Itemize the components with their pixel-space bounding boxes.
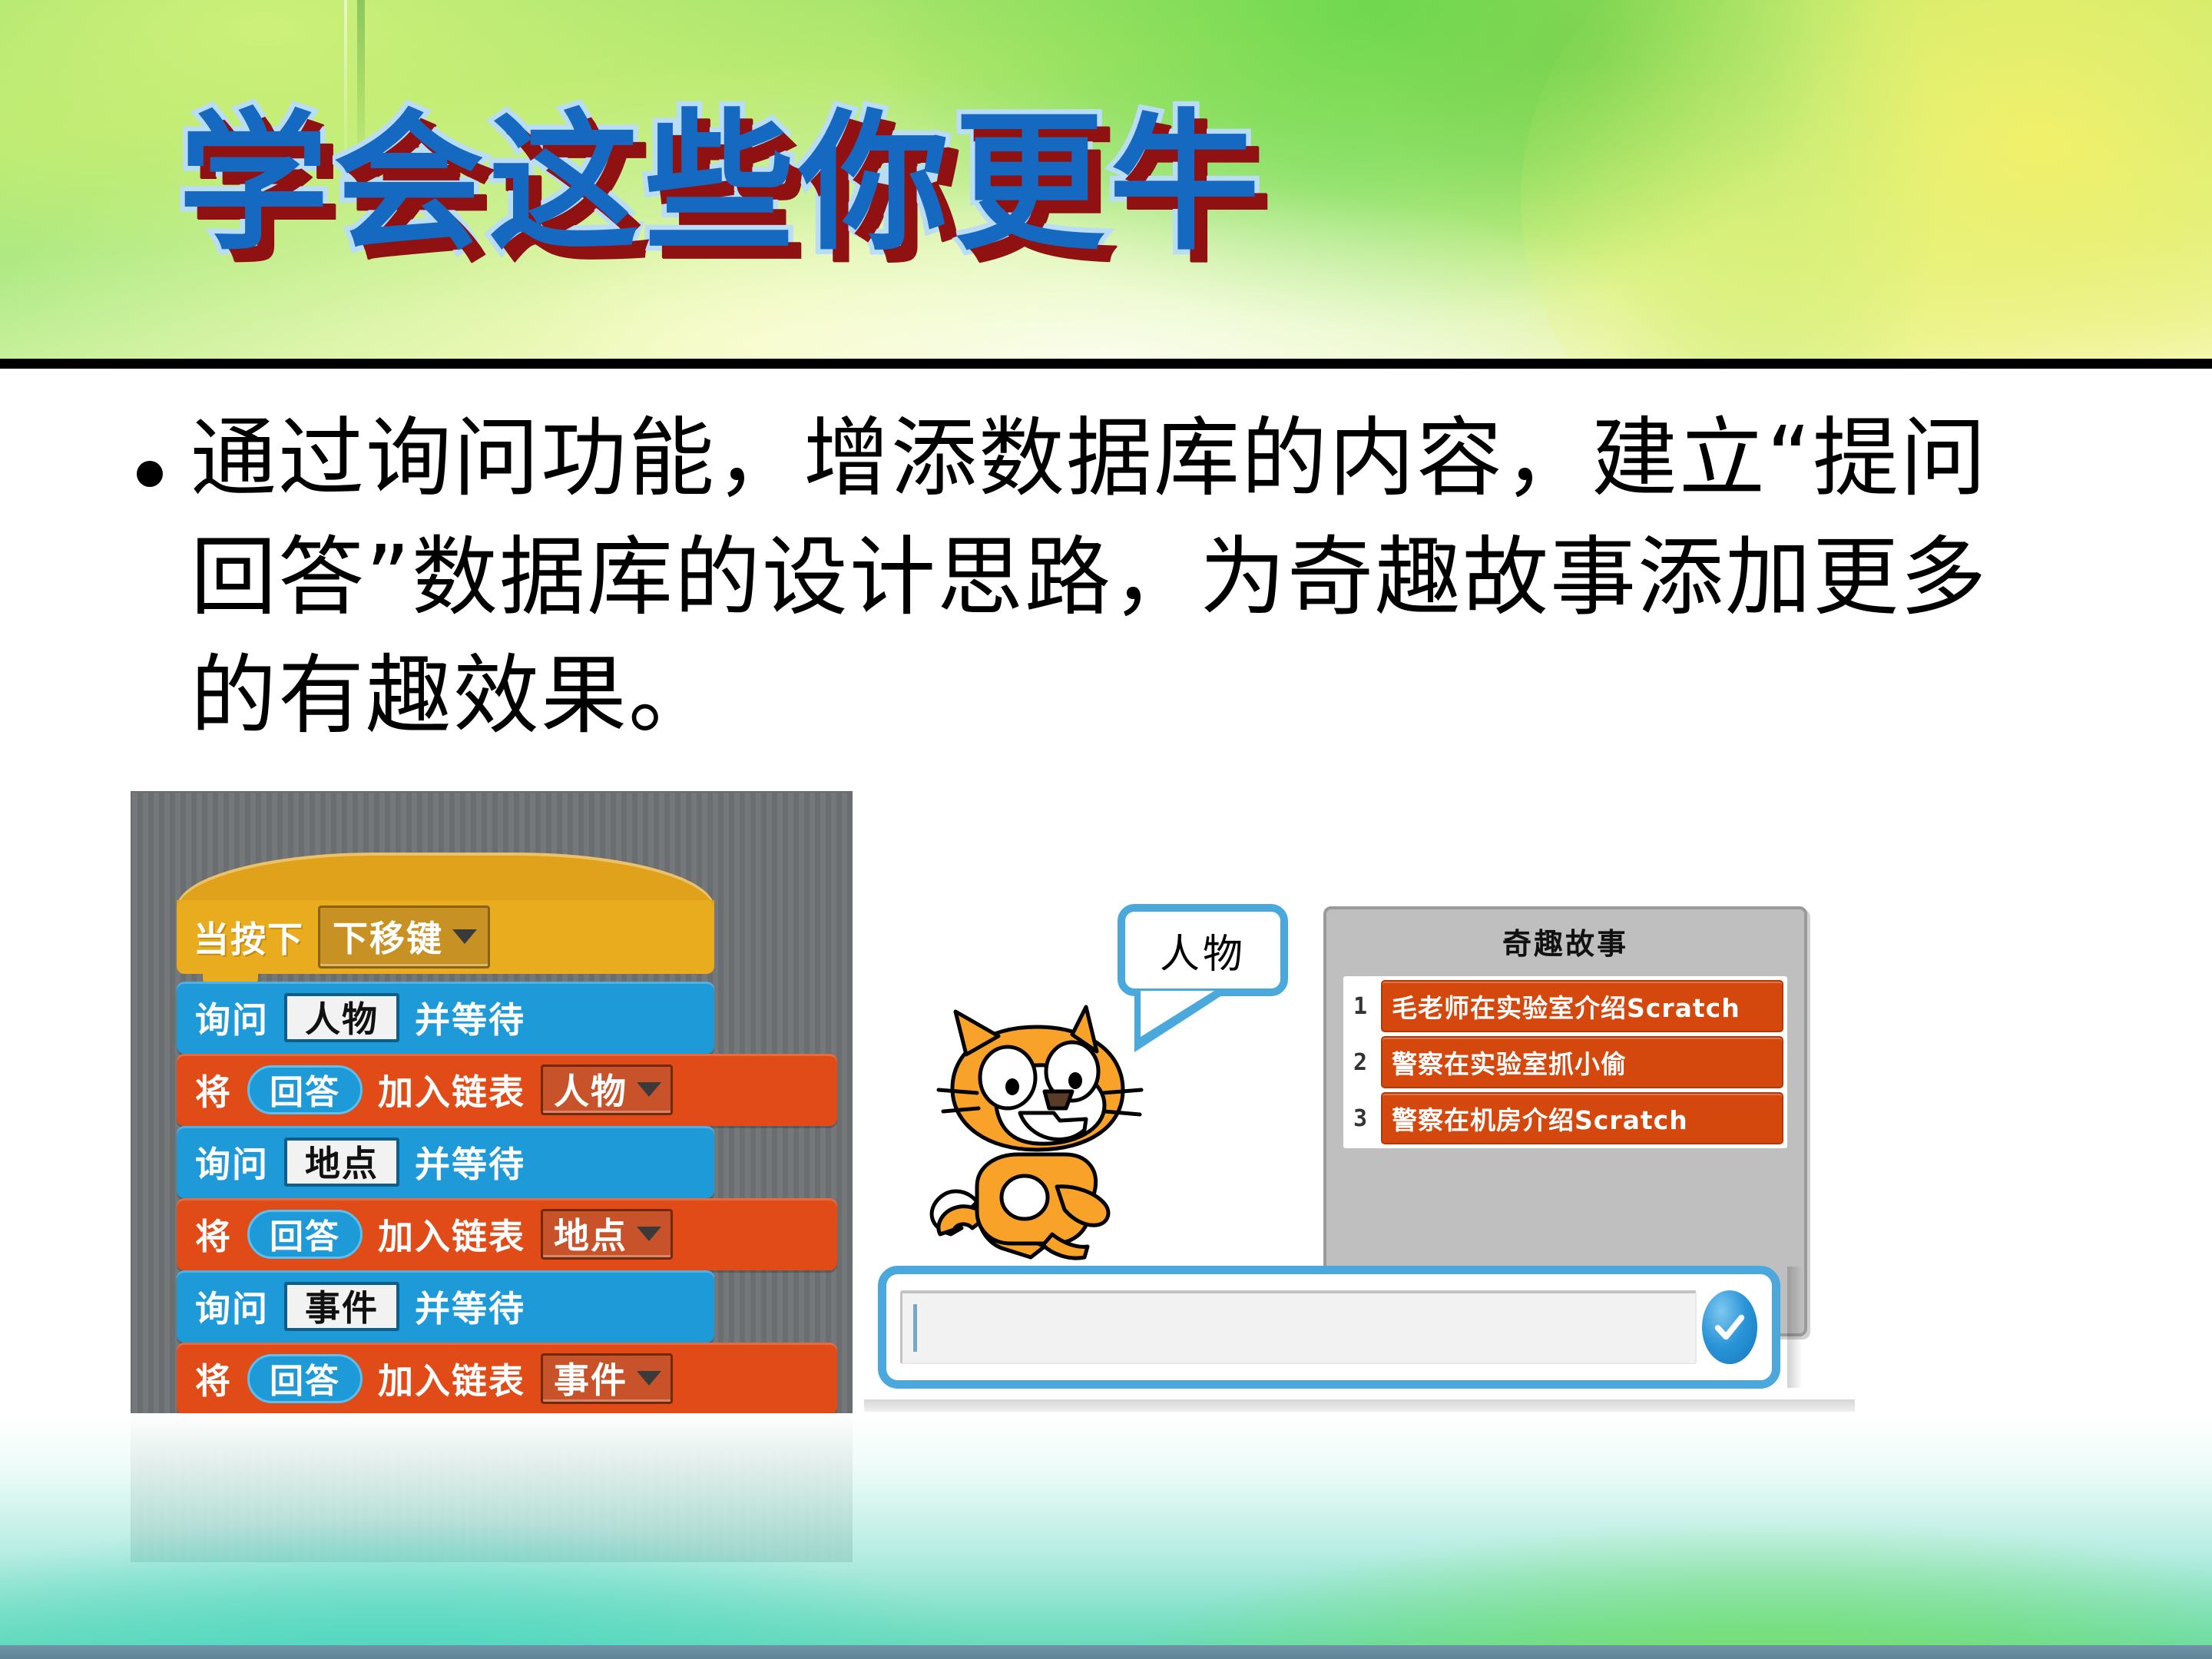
speech-bubble-text: 人物 — [1160, 922, 1246, 979]
list-item-value: 毛老师在实验室介绍Scratch — [1392, 993, 1740, 1023]
list-item-index: 1 — [1347, 993, 1373, 1020]
list-item-index: 3 — [1347, 1105, 1373, 1132]
ask-text-value-1: 人物 — [305, 992, 379, 1042]
answer-reporter-label-1: 回答 — [270, 1065, 340, 1114]
add-middle-label-1: 加入链表 — [378, 1065, 525, 1115]
list-dropdown-value-3: 事件 — [554, 1353, 628, 1403]
add-middle-label-3: 加入链表 — [378, 1353, 525, 1404]
list-item-value: 警察在机房介绍Scratch — [1392, 1105, 1688, 1135]
block-add-to-list-2[interactable]: 将 回答 加入链表 地点 — [177, 1198, 837, 1270]
ask-suffix-label-1: 并等待 — [415, 992, 525, 1043]
slide-header-banner: 学会这些你更牛 学会这些你更牛 — [0, 0, 2212, 359]
scratch-script-panel: 当按下 下移键 询问 人物 并等待 — [132, 793, 851, 1561]
add-prefix-label-1: 将 — [195, 1065, 232, 1115]
ask-prefix-label-1: 询问 — [195, 992, 269, 1043]
list-item[interactable]: 3 警察在机房介绍Scratch — [1347, 1092, 1783, 1144]
ask-bar-shadow — [1787, 1267, 1803, 1388]
ask-suffix-label-3: 并等待 — [415, 1281, 525, 1332]
ask-submit-button[interactable] — [1701, 1290, 1758, 1364]
script-block-stack: 当按下 下移键 询问 人物 并等待 — [177, 853, 837, 1415]
list-watcher-rows: 1 毛老师在实验室介绍Scratch 2 警察在实验室抓小偷 3 警察在机房介绍… — [1343, 976, 1787, 1148]
block-ask-and-wait-2[interactable]: 询问 地点 并等待 — [177, 1126, 714, 1198]
block-when-key-pressed[interactable]: 当按下 下移键 — [177, 853, 714, 982]
ask-text-input-3[interactable]: 事件 — [284, 1282, 399, 1331]
block-bottom-notch — [203, 1414, 258, 1428]
ask-text-value-2: 地点 — [305, 1136, 379, 1187]
ask-text-value-3: 事件 — [305, 1280, 379, 1331]
list-item-cell[interactable]: 毛老师在实验室介绍Scratch — [1381, 980, 1783, 1032]
list-item-cell[interactable]: 警察在实验室抓小偷 — [1381, 1036, 1783, 1088]
check-icon — [1702, 1290, 1757, 1364]
stage-baseline — [864, 1399, 1855, 1412]
check-glyph — [1712, 1310, 1747, 1345]
block-add-to-list-1[interactable]: 将 回答 加入链表 人物 — [177, 1054, 837, 1126]
add-prefix-label-3: 将 — [195, 1353, 232, 1404]
ask-text-input-2[interactable]: 地点 — [284, 1137, 399, 1187]
ask-prefix-label-3: 询问 — [195, 1281, 269, 1332]
answer-reporter-2[interactable]: 回答 — [247, 1210, 363, 1259]
answer-reporter-3[interactable]: 回答 — [247, 1354, 363, 1403]
list-dropdown-2[interactable]: 地点 — [541, 1209, 673, 1260]
chevron-down-icon — [637, 1371, 661, 1386]
ask-input-bar — [878, 1266, 1780, 1389]
body-bullet-text: 通过询问功能，增添数据库的内容，建立“提问回答”数据库的设计思路，为奇趣故事添加… — [190, 399, 2034, 756]
list-item-cell[interactable]: 警察在机房介绍Scratch — [1381, 1092, 1783, 1144]
slide-footer-bar — [0, 1645, 2212, 1659]
presentation-slide: 学会这些你更牛 学会这些你更牛 通过询问功能，增添数据库的内容，建立“提问回答”… — [0, 0, 2212, 1659]
bullet-point-icon — [137, 461, 163, 487]
list-watcher-title: 奇趣故事 — [1326, 920, 1804, 962]
hat-block-body: 当按下 下移键 — [177, 900, 714, 974]
key-dropdown-value: 下移键 — [333, 911, 443, 962]
list-dropdown-1[interactable]: 人物 — [541, 1065, 673, 1115]
hat-block-label: 当按下 — [194, 912, 304, 962]
chevron-down-icon — [637, 1082, 661, 1097]
chevron-down-icon — [637, 1227, 661, 1241]
scratch-cat-sprite[interactable] — [922, 1004, 1167, 1269]
ask-answer-input[interactable] — [900, 1290, 1697, 1364]
list-item-index: 2 — [1347, 1049, 1373, 1076]
add-prefix-label-2: 将 — [195, 1209, 232, 1260]
list-dropdown-value-1: 人物 — [554, 1064, 628, 1114]
speech-bubble: 人物 — [1118, 904, 1288, 996]
answer-reporter-label-3: 回答 — [270, 1353, 340, 1402]
ask-suffix-label-2: 并等待 — [415, 1137, 525, 1187]
list-dropdown-value-2: 地点 — [554, 1208, 628, 1259]
add-middle-label-2: 加入链表 — [378, 1209, 525, 1260]
block-ask-and-wait-3[interactable]: 询问 事件 并等待 — [177, 1270, 714, 1343]
chevron-down-icon — [452, 929, 477, 944]
list-item[interactable]: 1 毛老师在实验室介绍Scratch — [1347, 980, 1783, 1032]
block-add-to-list-3[interactable]: 将 回答 加入链表 事件 — [177, 1343, 837, 1415]
text-cursor — [913, 1304, 917, 1352]
answer-reporter-1[interactable]: 回答 — [247, 1065, 363, 1114]
key-dropdown[interactable]: 下移键 — [318, 906, 490, 969]
banner-swoosh-decoration — [1521, 0, 2120, 359]
page-title: 学会这些你更牛 — [178, 108, 1264, 261]
ask-text-input-1[interactable]: 人物 — [284, 993, 399, 1042]
answer-reporter-label-2: 回答 — [270, 1209, 340, 1258]
header-divider-rule — [0, 359, 2212, 369]
list-dropdown-3[interactable]: 事件 — [541, 1353, 673, 1404]
list-item[interactable]: 2 警察在实验室抓小偷 — [1347, 1036, 1783, 1088]
list-item-value: 警察在实验室抓小偷 — [1392, 1049, 1627, 1079]
scratch-stage: 人物 — [864, 892, 2185, 1415]
ask-prefix-label-2: 询问 — [195, 1137, 269, 1187]
body-bullet-row: 通过询问功能，增添数据库的内容，建立“提问回答”数据库的设计思路，为奇趣故事添加… — [137, 399, 2103, 756]
block-ask-and-wait-1[interactable]: 询问 人物 并等待 — [177, 982, 714, 1054]
